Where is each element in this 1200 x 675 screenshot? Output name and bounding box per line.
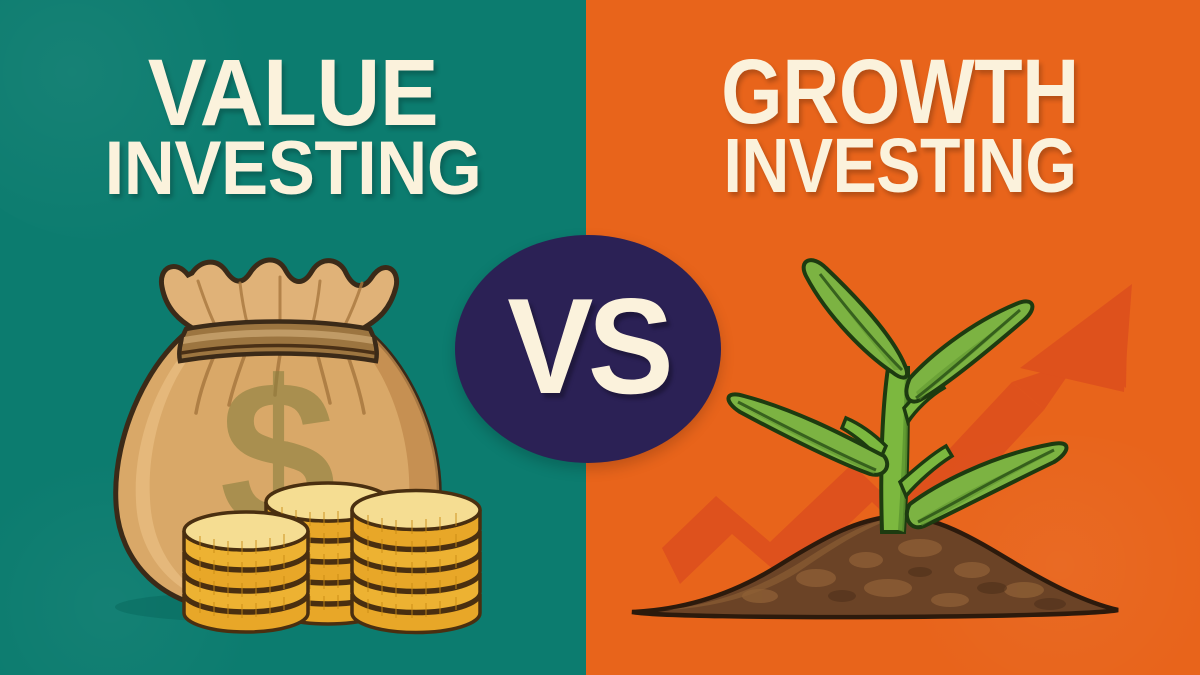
vs-badge: VS: [455, 235, 721, 463]
value-investing-title: VALUE INVESTING: [26, 52, 560, 202]
growth-title-line-2: INVESTING: [676, 133, 1123, 201]
coin-stack-left: [184, 512, 308, 632]
growth-title-line-1: GROWTH: [676, 52, 1123, 133]
value-title-line-1: VALUE: [45, 52, 542, 136]
value-title-line-2: INVESTING: [45, 136, 542, 203]
leaf-upper-left: [804, 260, 907, 377]
growth-investing-title: GROWTH INVESTING: [640, 52, 1160, 201]
vs-label: VS: [508, 278, 669, 414]
comparison-poster: VALUE INVESTING: [0, 0, 1200, 675]
coin-stack-right: [352, 491, 480, 633]
